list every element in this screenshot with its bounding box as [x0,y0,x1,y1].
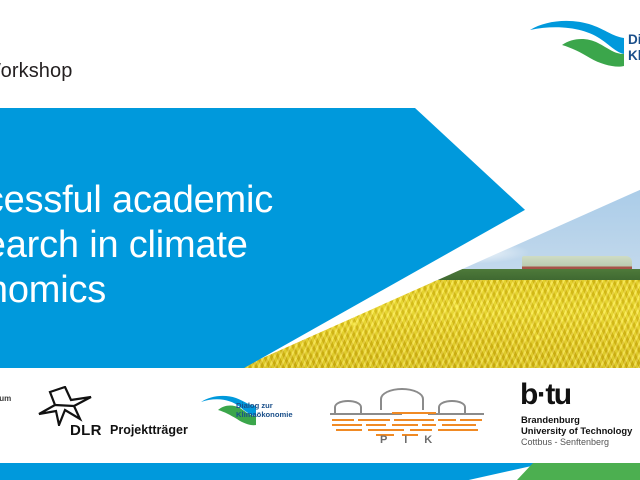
dialog-zur-klimaoekonomie-logo-bottom: Dialog zur Klimaökonomie [200,390,320,436]
pik-dome-icon [380,388,424,410]
bmbf-logo-fragment: ium [0,394,11,403]
footer-blue-segment [0,463,545,480]
presentation-slide: Workshop Di Kli [0,0,640,480]
slide-title: ccessful academic search in climate onom… [0,178,296,313]
wind-turbine-icon [518,170,536,228]
btu-campus-line: Cottbus - Senftenberg [521,437,609,447]
pik-wordmark: P I K [380,434,439,446]
dialog-zur-klimaoekonomie-logo-top: Di Kli [528,18,640,78]
dialog-logo-text-line1: Di [628,32,640,47]
dlr-suffix: Projektträger [110,423,188,437]
dialog-logo-text-line2: Kli [628,48,640,63]
dialog-wave-icon [528,18,626,74]
slide-title-line-2: search in climate [0,223,296,268]
slide-title-line-3: onomics [0,268,296,313]
slide-title-line-1: ccessful academic [0,178,296,223]
btu-name-line2: University of Technology [521,425,632,436]
dialog-line1: Dialog zur [236,401,273,410]
footer-green-segment [517,463,640,480]
pik-logo: P I K [330,382,485,448]
dialog-logo-text: Di Kli [628,32,640,65]
dialog-logo-text-bottom: Dialog zur Klimaökonomie [236,401,293,420]
dlr-projekttraeger-logo: DLR Projektträger [38,386,178,436]
btu-university-name: Brandenburg University of Technology [521,414,632,437]
btu-logo: b·tu Brandenburg University of Technolog… [520,380,640,450]
btu-wordmark: b·tu [520,380,571,410]
dlr-wordmark: DLR [70,422,102,439]
pik-dome-icon [438,400,466,414]
footer-bar [0,463,640,480]
dialog-line2: Klimaökonomie [236,410,293,419]
partner-logo-bar: ium DLR Projektträger Dialog zur Klimaök… [0,368,640,463]
dlr-mark-icon [38,386,92,426]
btu-name-line1: Brandenburg [521,414,580,425]
pik-dome-icon [334,400,362,414]
slide-kicker: Workshop [0,60,72,83]
